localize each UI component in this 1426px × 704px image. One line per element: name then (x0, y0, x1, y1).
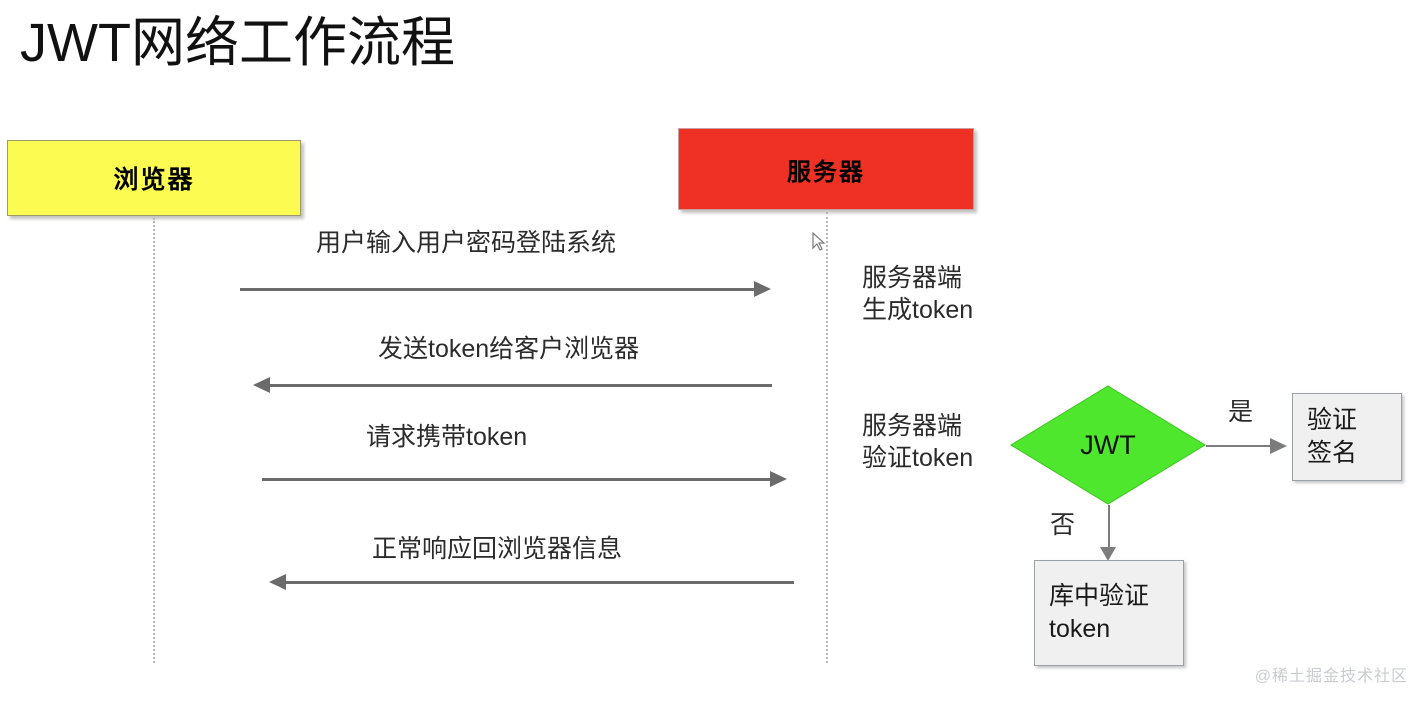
message-arrowhead-1 (754, 281, 771, 297)
message-label-3: 请求携带token (366, 422, 527, 452)
message-arrowhead-3 (770, 471, 787, 487)
server-note-verify-token: 服务器端 验证token (862, 410, 973, 474)
process-box-db-verify-token: 库中验证 token (1034, 560, 1184, 666)
flow-line-no (1108, 505, 1110, 551)
message-label-2: 发送token给客户浏览器 (378, 334, 639, 364)
flow-arrowhead-no (1100, 547, 1116, 561)
message-line-3 (262, 478, 772, 481)
participant-server: 服务器 (678, 128, 974, 210)
participant-browser-label: 浏览器 (113, 160, 194, 196)
participant-server-label: 服务器 (787, 152, 865, 187)
watermark: @稀土掘金技术社区 (1255, 662, 1408, 686)
server-note-generate-token: 服务器端 生成token (862, 262, 973, 326)
flow-line-yes (1206, 445, 1272, 447)
message-arrowhead-2 (253, 377, 270, 393)
lifeline-server (826, 212, 828, 663)
message-line-4 (278, 581, 794, 584)
page-title: JWT网络工作流程 (20, 12, 455, 74)
participant-browser: 浏览器 (7, 140, 301, 216)
message-label-1: 用户输入用户密码登陆系统 (316, 228, 616, 258)
flow-arrowhead-yes (1270, 438, 1287, 454)
process-box-verify-signature: 验证 签名 (1292, 393, 1402, 481)
lifeline-browser (153, 218, 155, 663)
branch-label-no: 否 (1050, 505, 1075, 541)
message-line-2 (262, 384, 772, 387)
message-arrowhead-4 (269, 574, 286, 590)
message-label-4: 正常响应回浏览器信息 (372, 534, 622, 564)
diagram-canvas: JWT网络工作流程 浏览器 服务器 用户输入用户密码登陆系统 发送token给客… (0, 0, 1426, 704)
mouse-cursor-icon (812, 232, 826, 252)
message-line-1 (240, 288, 756, 291)
decision-diamond-jwt: JWT (1010, 385, 1206, 505)
decision-diamond-label: JWT (1010, 385, 1206, 505)
branch-label-yes: 是 (1228, 392, 1253, 428)
